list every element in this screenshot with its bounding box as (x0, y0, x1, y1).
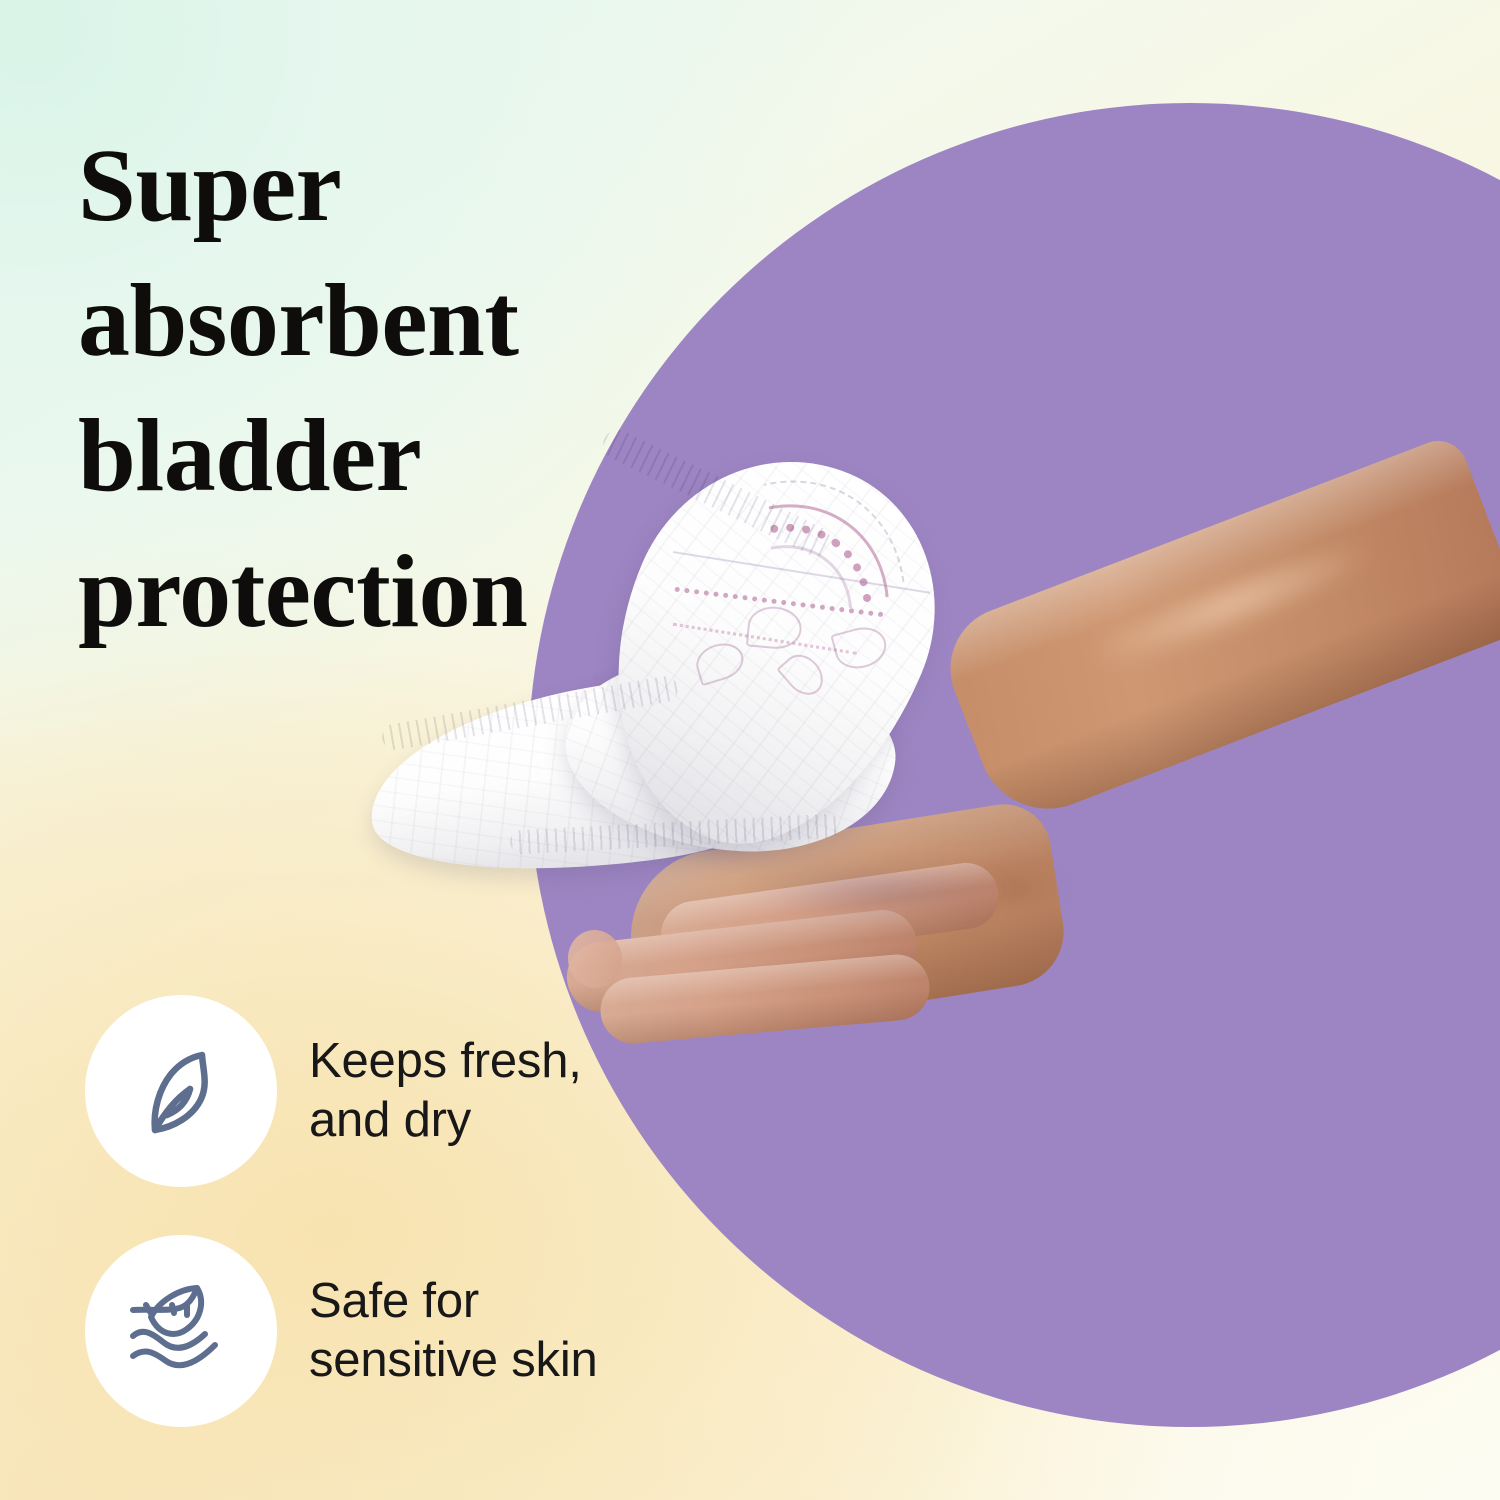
feather-soft-layers-icon (125, 1279, 237, 1383)
print-line (420, 860, 656, 898)
hero-product-photo (330, 430, 1500, 1050)
absorbent-pad (360, 450, 1020, 920)
feature-item-keeps-fresh-and-dry: Keeps fresh, and dry (85, 995, 598, 1187)
leaf-icon (129, 1039, 233, 1143)
feature-label: Safe for sensitive skin (309, 1272, 598, 1390)
feature-icon-badge (85, 1235, 277, 1427)
feature-label: Keeps fresh, and dry (309, 1032, 582, 1150)
product-marketing-image: Super absorbent bladder protection (0, 0, 1500, 1500)
feature-list: Keeps fresh, and dry (85, 995, 598, 1475)
feature-item-safe-for-sensitive-skin: Safe for sensitive skin (85, 1235, 598, 1427)
feature-icon-badge (85, 995, 277, 1187)
